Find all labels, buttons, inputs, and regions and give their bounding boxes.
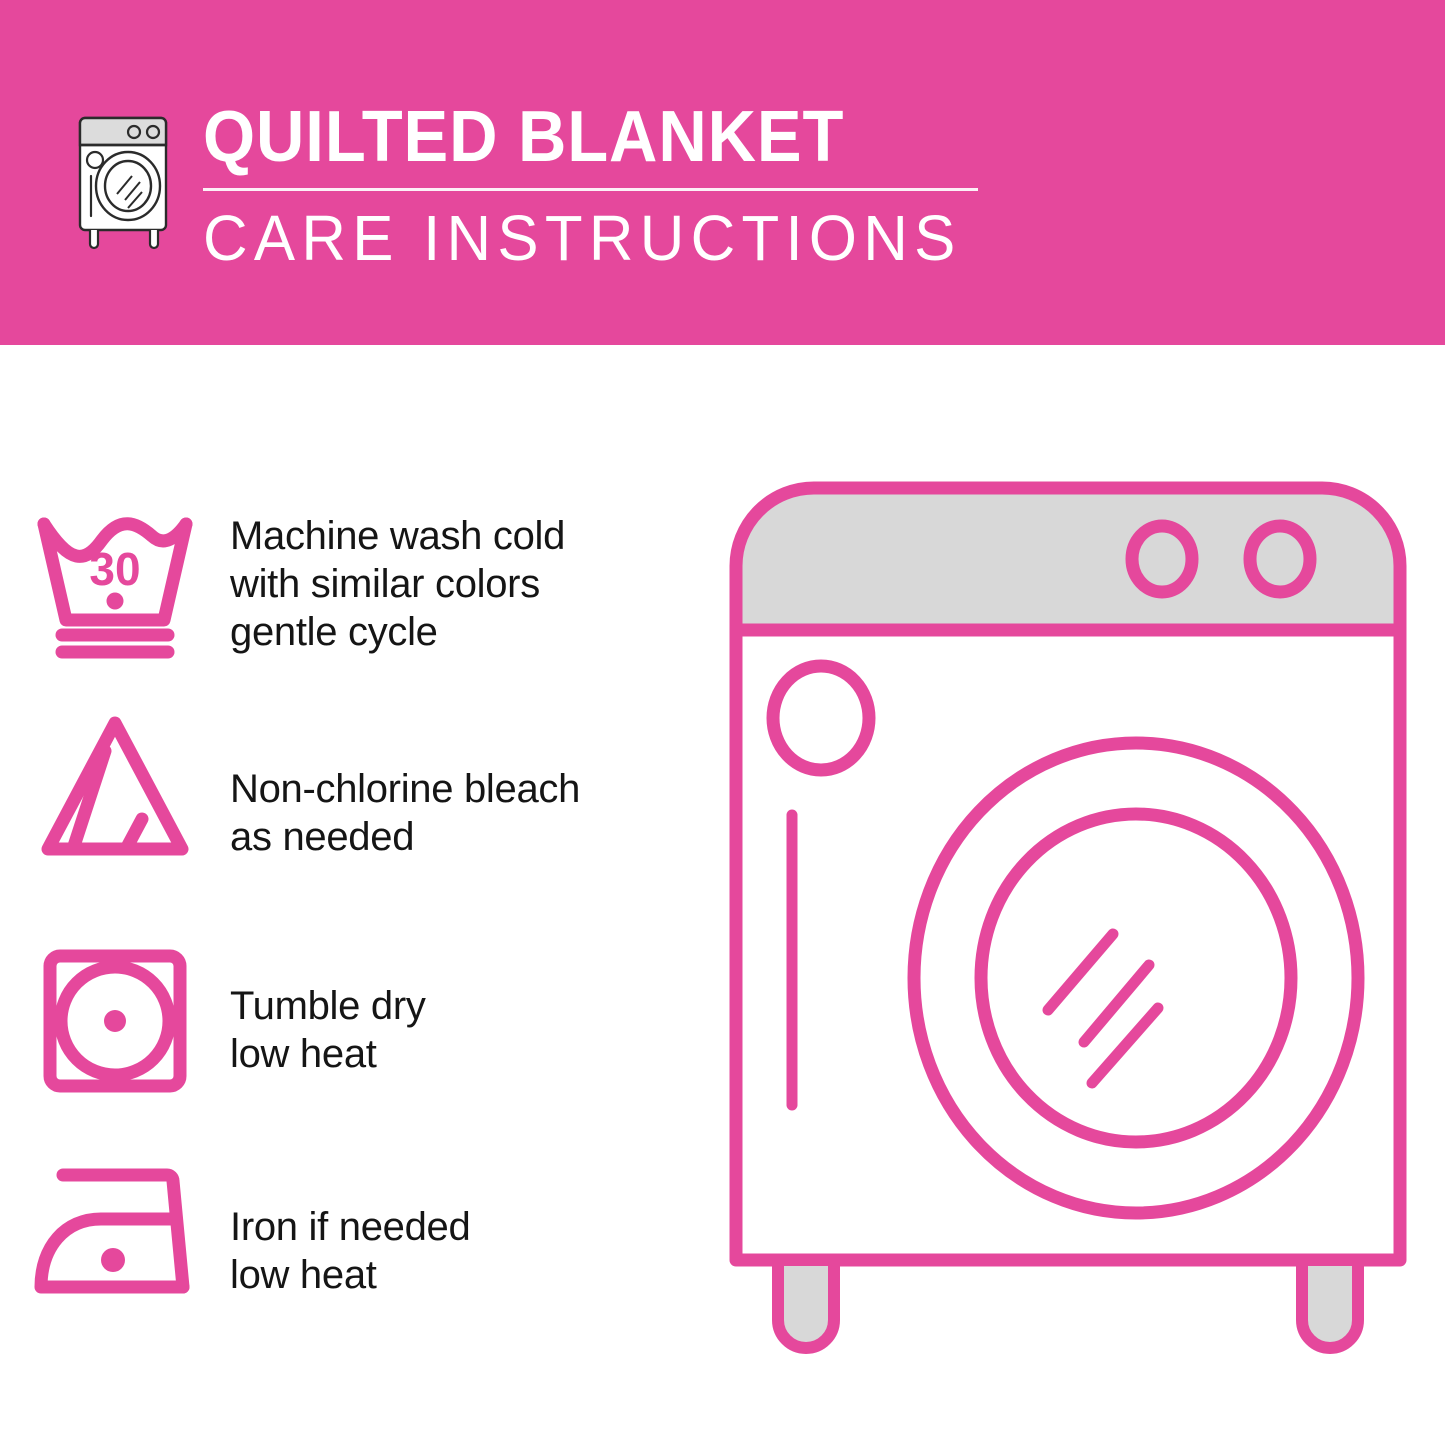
wash-basin-30-icon: 30 bbox=[0, 500, 230, 662]
list-item-label: Tumble dry low heat bbox=[230, 940, 426, 1078]
wash-temp-value: 30 bbox=[89, 543, 140, 595]
list-item-label: Machine wash cold with similar colors ge… bbox=[230, 500, 565, 656]
machine-leg-right bbox=[1302, 1260, 1358, 1348]
care-instructions-list: 30 Machine wash cold with similar colors… bbox=[0, 345, 700, 1445]
washing-machine-icon bbox=[62, 104, 184, 256]
list-item-label: Iron if needed low heat bbox=[230, 1155, 470, 1299]
machine-control-panel bbox=[736, 488, 1400, 630]
page-subtitle: CARE INSTRUCTIONS bbox=[203, 204, 965, 272]
machine-body bbox=[736, 630, 1400, 1260]
machine-leg-left bbox=[778, 1260, 834, 1348]
list-item: 30 Machine wash cold with similar colors… bbox=[0, 500, 700, 662]
list-item: Iron if needed low heat bbox=[0, 1155, 700, 1307]
list-item: Tumble dry low heat bbox=[0, 940, 700, 1102]
bleach-triangle-icon bbox=[0, 705, 230, 867]
washing-machine-illustration bbox=[718, 470, 1418, 1370]
list-item: Non-chlorine bleach as needed bbox=[0, 705, 700, 867]
list-item-label: Non-chlorine bleach as needed bbox=[230, 705, 580, 861]
page-title: QUILTED BLANKET bbox=[203, 98, 938, 176]
header-banner: QUILTED BLANKET CARE INSTRUCTIONS bbox=[0, 0, 1445, 345]
tumble-dry-low-icon bbox=[0, 940, 230, 1102]
header-text-block: QUILTED BLANKET CARE INSTRUCTIONS bbox=[203, 98, 993, 272]
iron-low-icon bbox=[0, 1155, 230, 1307]
title-divider bbox=[203, 188, 978, 191]
